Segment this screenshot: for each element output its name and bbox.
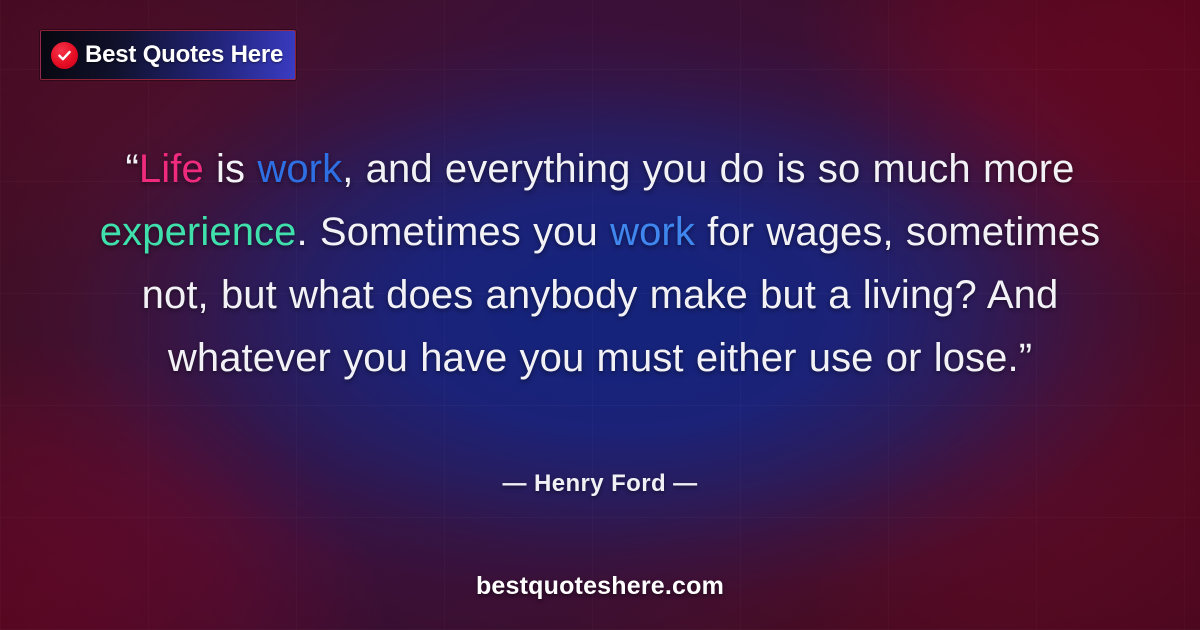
quote-card: Best Quotes Here “Life is work, and ever… — [0, 0, 1200, 630]
quote-text: “Life is work, and everything you do is … — [76, 138, 1124, 390]
site-footer-url: bestquoteshere.com — [476, 572, 724, 600]
verified-check-icon — [51, 42, 78, 69]
quote-segment-is: is — [204, 147, 258, 191]
quote-segment-work-1: work — [257, 147, 342, 191]
quote-segment-work-2: work — [610, 210, 695, 254]
quote-segment-open-mark: “ — [126, 147, 139, 191]
quote-block: “Life is work, and everything you do is … — [0, 138, 1200, 390]
quote-segment-life: Life — [139, 147, 204, 191]
quote-segment-experience: experience — [100, 210, 297, 254]
quote-segment-middle-2: . Sometimes you — [296, 210, 610, 254]
brand-badge-label: Best Quotes Here — [85, 43, 283, 67]
site-footer: bestquoteshere.com — [0, 572, 1200, 601]
quote-segment-middle-1: , and everything you do is so much more — [342, 147, 1074, 191]
brand-badge[interactable]: Best Quotes Here — [40, 30, 296, 80]
quote-attribution: — Henry Ford — — [0, 470, 1200, 498]
